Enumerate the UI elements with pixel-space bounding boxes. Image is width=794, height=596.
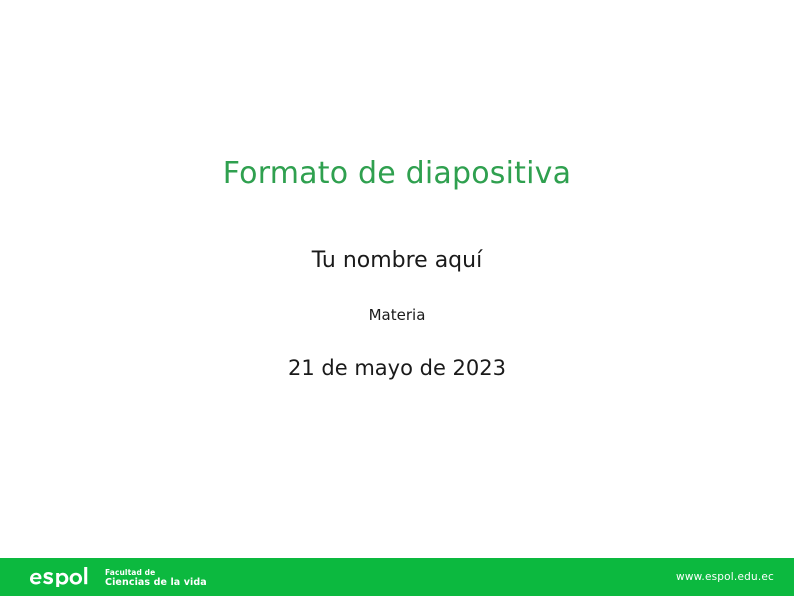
footer-website-url[interactable]: www.espol.edu.ec [676,558,774,596]
faculty-label: Facultad de Ciencias de la vida [105,567,207,588]
slide-author: Tu nombre aquí [0,247,794,275]
espol-wordmark-icon [28,567,96,587]
slide-date: 21 de mayo de 2023 [0,355,794,382]
faculty-label-line2: Ciencias de la vida [105,577,207,588]
slide-subject: Materia [0,305,794,325]
faculty-label-line1: Facultad de [105,568,207,577]
page-title: Formato de diapositiva [0,156,794,192]
presentation-slide: Formato de diapositiva Tu nombre aquí Ma… [0,0,794,596]
espol-logo: Facultad de Ciencias de la vida [28,558,207,596]
footer-bar: Facultad de Ciencias de la vida www.espo… [0,558,794,596]
